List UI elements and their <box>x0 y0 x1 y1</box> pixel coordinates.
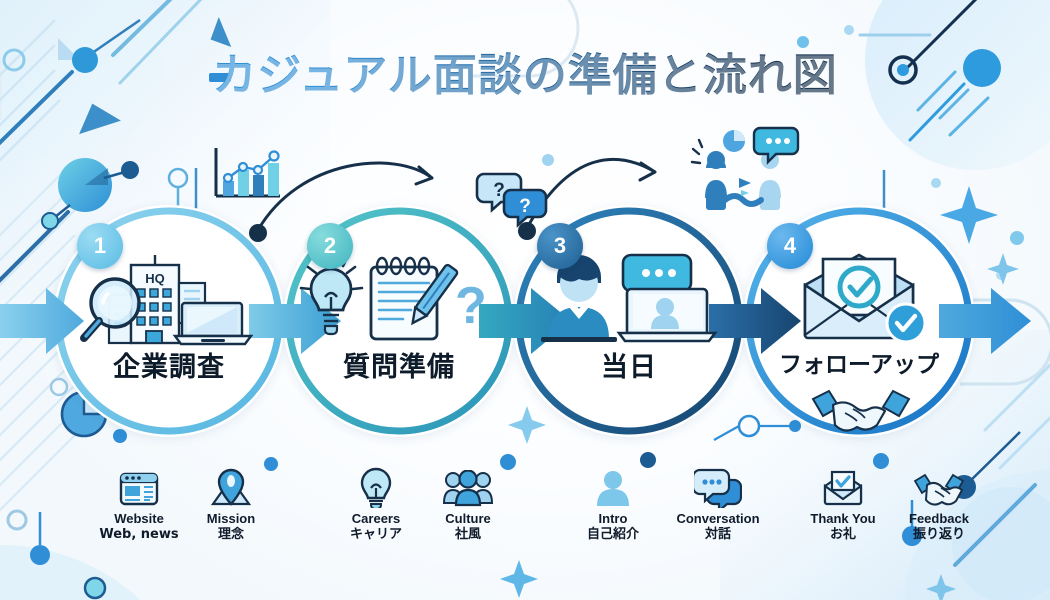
step-2[interactable]: 2 <box>283 205 515 437</box>
handshake-icon <box>896 466 982 508</box>
step-3-number: 3 <box>554 233 566 259</box>
subitem-thank-you[interactable]: Thank You お礼 <box>800 466 886 544</box>
lightbulb-icon <box>335 466 417 508</box>
chat-bubbles-icon <box>664 466 772 508</box>
subitem-mission[interactable]: Mission 理念 <box>190 466 272 544</box>
subitem-thank-you-en: Thank You <box>800 512 886 527</box>
step-3-badge: 3 <box>537 223 583 269</box>
subitem-mission-jp: 理念 <box>190 527 272 544</box>
step-1[interactable]: 1 HQ <box>53 205 285 437</box>
subitem-careers-jp: キャリア <box>335 527 417 544</box>
step-1-label: 企業調査 <box>53 345 285 384</box>
step-3-label: 当日 <box>513 345 745 384</box>
step-1-number: 1 <box>94 233 106 259</box>
svg-text:?: ? <box>455 277 487 335</box>
step-4-number: 4 <box>784 233 796 259</box>
step-3[interactable]: 3 当日 <box>513 205 745 437</box>
subitem-intro-en: Intro <box>572 512 654 527</box>
step-4-subitems: Thank You お礼 Feedback 振り返り <box>800 466 982 544</box>
step-4-badge: 4 <box>767 223 813 269</box>
subitem-feedback[interactable]: Feedback 振り返り <box>896 466 982 544</box>
step-1-badge: 1 <box>77 223 123 269</box>
person-icon <box>572 466 654 508</box>
subitem-feedback-jp: 振り返り <box>896 527 982 544</box>
step-4[interactable]: 4 フォローアップ <box>743 205 975 437</box>
handshake-people-icon <box>692 128 798 210</box>
browser-window-icon <box>98 466 180 508</box>
infographic-canvas: カジュアル面談の準備と流れ図 ? <box>0 0 1050 600</box>
subitem-website-en: Website <box>98 512 180 527</box>
step-2-label: 質問準備 <box>283 345 515 384</box>
step-4-label: フォローアップ <box>743 345 975 379</box>
subitem-website-jp: Web, news <box>98 527 180 544</box>
subitem-feedback-en: Feedback <box>896 512 982 527</box>
envelope-check-icon <box>800 466 886 508</box>
step-1-subitems: Website Web, news Mission 理念 <box>98 466 272 544</box>
subitem-conversation-en: Conversation <box>664 512 772 527</box>
step-4-handshake-icon <box>809 387 913 433</box>
subitem-careers[interactable]: Careers キャリア <box>335 466 417 544</box>
step-2-badge: 2 <box>307 223 353 269</box>
step-3-subitems: Intro 自己紹介 Conversation 対話 <box>572 466 772 544</box>
subitem-intro-jp: 自己紹介 <box>572 527 654 544</box>
subitem-intro[interactable]: Intro 自己紹介 <box>572 466 654 544</box>
subitem-culture[interactable]: Culture 社風 <box>427 466 509 544</box>
subitem-thank-you-jp: お礼 <box>800 527 886 544</box>
subitem-mission-en: Mission <box>190 512 272 527</box>
step-2-subitems: Careers キャリア Culture 社風 <box>335 466 509 544</box>
bar-chart-icon <box>216 148 280 196</box>
subitem-culture-en: Culture <box>427 512 509 527</box>
subitem-conversation-jp: 対話 <box>664 527 772 544</box>
people-group-icon <box>427 466 509 508</box>
subitem-culture-jp: 社風 <box>427 527 509 544</box>
subitem-website[interactable]: Website Web, news <box>98 466 180 544</box>
step-2-number: 2 <box>324 233 336 259</box>
svg-text:HQ: HQ <box>145 271 165 286</box>
map-pin-icon <box>190 466 272 508</box>
subitem-careers-en: Careers <box>335 512 417 527</box>
subitem-conversation[interactable]: Conversation 対話 <box>664 466 772 544</box>
